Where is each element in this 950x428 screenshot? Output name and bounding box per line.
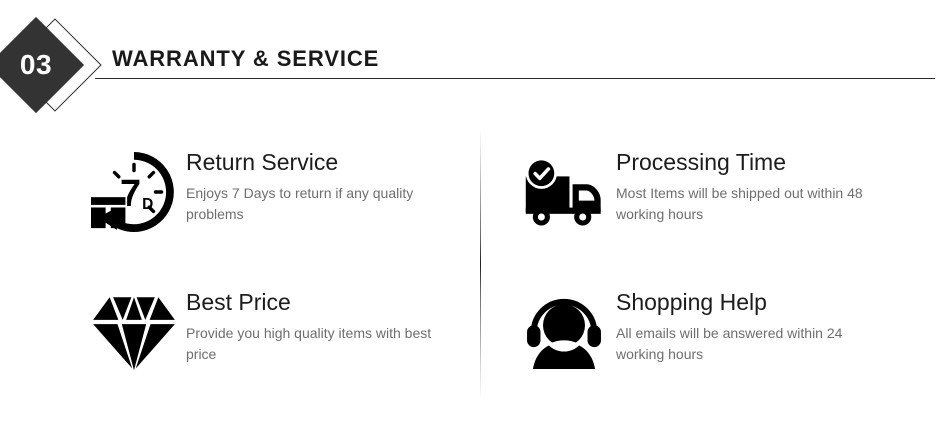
feature-text-block: Return Service Enjoys 7 Days to return i… [180, 144, 446, 225]
feature-grid: 7 D Return Service Enjoys 7 Days to retu… [0, 128, 950, 418]
feature-description: Most Items will be shipped out within 48… [616, 183, 876, 224]
feature-description: Enjoys 7 Days to return if any quality p… [186, 183, 446, 224]
feature-item-return-service: 7 D Return Service Enjoys 7 Days to retu… [88, 144, 508, 238]
header-divider-rule [95, 78, 935, 79]
feature-description: All emails will be answered within 24 wo… [616, 323, 876, 364]
feature-description: Provide you high quality items with best… [186, 323, 446, 364]
feature-text-block: Processing Time Most Items will be shipp… [610, 144, 876, 225]
page-title: WARRANTY & SERVICE [112, 46, 379, 72]
feature-text-block: Best Price Provide you high quality item… [180, 284, 446, 365]
feature-item-shopping-help: Shopping Help All emails will be answere… [518, 284, 938, 378]
feature-item-processing-time: Processing Time Most Items will be shipp… [518, 144, 938, 238]
feature-item-best-price: Best Price Provide you high quality item… [88, 284, 508, 378]
feature-title: Best Price [186, 290, 446, 315]
feature-title: Shopping Help [616, 290, 876, 315]
svg-text:D: D [142, 196, 153, 213]
feature-title: Return Service [186, 150, 446, 175]
feature-title: Processing Time [616, 150, 876, 175]
section-header: 03 WARRANTY & SERVICE [0, 0, 950, 128]
feature-text-block: Shopping Help All emails will be answere… [610, 284, 876, 365]
section-number: 03 [0, 44, 72, 86]
return-7-days-icon: 7 D [88, 146, 180, 238]
delivery-truck-check-icon [518, 146, 610, 238]
diamond-gem-icon [88, 286, 180, 378]
headset-support-icon [518, 286, 610, 378]
